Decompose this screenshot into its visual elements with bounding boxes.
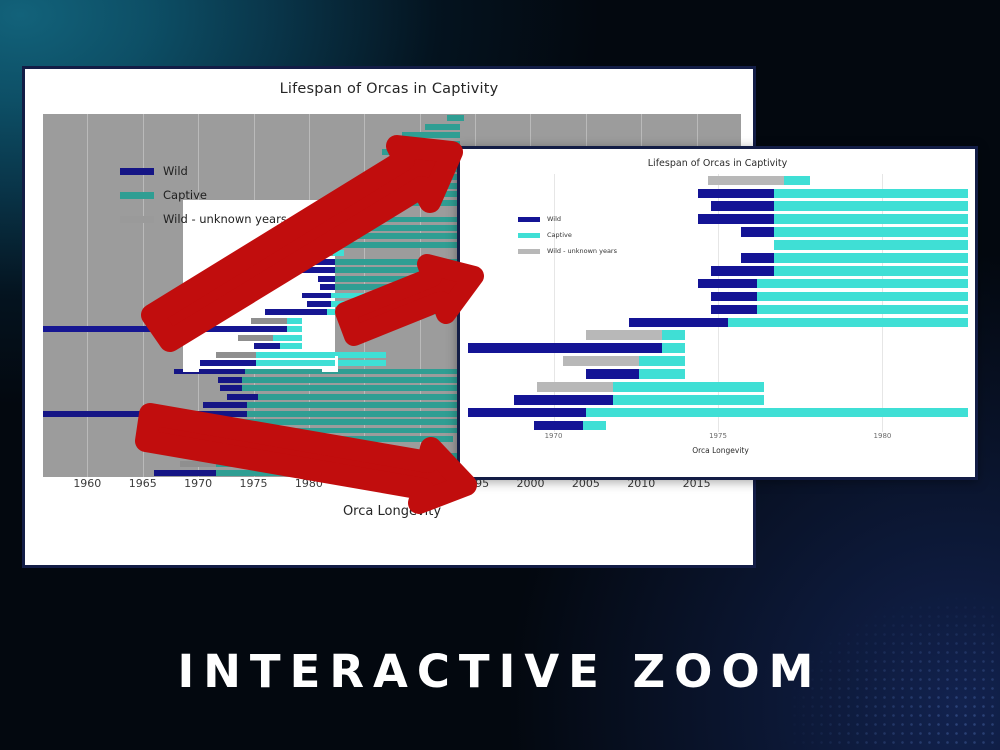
chart-bar-segment (402, 132, 460, 138)
chart-bar-segment (227, 394, 258, 400)
chart-bar-segment (238, 335, 273, 341)
inset-bar-segment (586, 330, 662, 340)
inset-bar-segment (728, 318, 968, 328)
inset-bar-segment (711, 266, 774, 276)
chart-bar-segment (216, 352, 256, 358)
chart-bar-segment (293, 267, 335, 273)
main-chart-legend: Wild Captive Wild - unknown years (120, 159, 287, 231)
chart-bar-segment (229, 419, 475, 425)
inset-legend-item-wild: Wild (518, 211, 617, 227)
inset-bar-segment (662, 330, 685, 340)
inset-bar-segment (784, 176, 810, 186)
inset-bar-segment (613, 395, 764, 405)
chart-bar-segment (191, 453, 222, 459)
chart-bar-segment (280, 343, 302, 349)
legend-label-unknown: Wild - unknown years (163, 212, 287, 226)
chart-bar-segment (203, 402, 247, 408)
chart-bar-segment (254, 343, 281, 349)
chart-bar-segment (256, 352, 387, 358)
inset-bar-segment (698, 189, 774, 199)
chart-bar-segment (316, 242, 338, 248)
inset-legend-label-unknown: Wild - unknown years (547, 247, 617, 255)
chart-bar-segment (302, 293, 331, 299)
x-axis-tick-label: 1980 (295, 477, 323, 490)
inset-legend-swatch-wild-icon (518, 217, 540, 222)
chart-bar-segment (402, 141, 460, 147)
chart-bar-segment (214, 436, 232, 442)
chart-bar-segment (318, 276, 336, 282)
legend-label-wild: Wild (163, 164, 188, 178)
chart-bar-segment (307, 250, 334, 256)
legend-item-wild: Wild (120, 159, 287, 183)
chart-bar-segment (43, 411, 247, 417)
chart-bar-segment (265, 309, 327, 315)
chart-bar-segment (196, 428, 227, 434)
inset-chart-x-axis-label: Orca Longevity (460, 446, 981, 455)
inset-bar-segment (613, 382, 764, 392)
legend-swatch-captive-icon (120, 192, 154, 199)
chart-bar-segment (342, 208, 371, 214)
inset-bar-segment (757, 279, 968, 289)
inset-x-axis-tick-label: 1970 (545, 432, 563, 440)
inset-chart-title: Lifespan of Orcas in Captivity (460, 158, 975, 169)
x-axis-tick-label: 1975 (240, 477, 268, 490)
inset-bar-segment (586, 369, 639, 379)
inset-bar-segment (629, 318, 728, 328)
chart-bar-segment (180, 461, 215, 467)
chart-bar-segment (322, 233, 346, 239)
inset-bar-segment (774, 227, 968, 237)
inset-bar-segment (662, 343, 685, 353)
inset-legend-swatch-captive-icon (518, 233, 540, 238)
inset-bar-segment (774, 266, 968, 276)
inset-x-axis-tick-label: 1975 (709, 432, 727, 440)
slide-caption: INTERACTIVE ZOOM (0, 645, 1000, 698)
chart-bar-segment (287, 326, 303, 332)
inset-bar-segment (468, 408, 586, 418)
chart-bar-segment (220, 385, 242, 391)
inset-bar-segment (537, 382, 613, 392)
chart-bar-segment (216, 461, 353, 467)
selection-handle-bl[interactable] (183, 356, 199, 372)
chart-bar-segment (218, 377, 242, 383)
x-axis-tick-label: 1985 (350, 477, 378, 490)
inset-bar-segment (757, 305, 968, 315)
inset-x-axis-tick-label: 1980 (874, 432, 892, 440)
chart-bar-segment (360, 217, 382, 223)
chart-bar-segment (287, 318, 303, 324)
inset-bar-segment (774, 189, 968, 199)
x-axis-tick-label: 1970 (184, 477, 212, 490)
inset-bar-segment (774, 214, 968, 224)
chart-bar-segment (447, 115, 464, 121)
inset-bar-segment (741, 253, 774, 263)
legend-swatch-unknown-icon (120, 216, 154, 223)
inset-bar-segment (468, 343, 662, 353)
slide-canvas: Lifespan of Orcas in Captivity Wild Capt… (0, 0, 1000, 750)
chart-bar-segment (333, 225, 364, 231)
inset-legend-swatch-unknown-icon (518, 249, 540, 254)
inset-legend-label-wild: Wild (547, 215, 561, 223)
gridline (87, 114, 88, 477)
inset-bar-segment (563, 356, 639, 366)
inset-bar-segment (757, 292, 968, 302)
inset-bar-segment (774, 240, 968, 250)
x-axis-tick-label: 1990 (406, 477, 434, 490)
inset-chart-legend: Wild Captive Wild - unknown years (518, 211, 617, 259)
inset-bar-segment (534, 421, 583, 431)
chart-bar-segment (216, 470, 349, 476)
inset-legend-item-captive: Captive (518, 227, 617, 243)
inset-bar-segment (698, 279, 757, 289)
chart-bar-segment (293, 259, 335, 265)
inset-bar-segment (711, 201, 774, 211)
inset-bar-segment (708, 176, 784, 186)
chart-bar-segment (273, 335, 302, 341)
chart-bar-segment (196, 419, 229, 425)
inset-bar-segment (586, 408, 968, 418)
inset-bar-segment (698, 214, 774, 224)
main-chart-x-axis-label: Orca Longevity (25, 504, 759, 519)
legend-label-captive: Captive (163, 188, 207, 202)
inset-bar-segment (774, 201, 968, 211)
inset-bar-segment (711, 305, 757, 315)
chart-bar-segment (251, 318, 286, 324)
selection-handle-br[interactable] (322, 356, 338, 372)
selection-handle-tr[interactable] (322, 200, 338, 216)
chart-bar-segment (43, 326, 287, 332)
inset-bar-segment (741, 227, 774, 237)
chart-bar-segment (371, 208, 389, 214)
chart-bar-segment (256, 360, 387, 366)
main-chart-x-axis: 1960196519701975198019851990199520002005… (43, 477, 741, 499)
chart-bar-segment (342, 200, 373, 206)
inset-bar-segment (639, 369, 685, 379)
inset-legend-item-unknown: Wild - unknown years (518, 243, 617, 259)
chart-bar-segment (154, 470, 216, 476)
chart-bar-segment (307, 301, 331, 307)
legend-swatch-wild-icon (120, 168, 154, 175)
main-chart-title: Lifespan of Orcas in Captivity (25, 81, 753, 97)
x-axis-tick-label: 1960 (73, 477, 101, 490)
chart-bar-segment (320, 284, 336, 290)
legend-item-unknown: Wild - unknown years (120, 207, 287, 231)
inset-bar-segment (514, 395, 613, 405)
chart-bar-segment (231, 436, 453, 442)
inset-legend-label-captive: Captive (547, 231, 572, 239)
legend-item-captive: Captive (120, 183, 287, 207)
x-axis-tick-label: 1965 (129, 477, 157, 490)
inset-bar-segment (639, 356, 685, 366)
zoom-inset-card: Lifespan of Orcas in Captivity Wild Capt… (457, 146, 978, 480)
chart-bar-segment (200, 360, 255, 366)
inset-bar-segment (774, 253, 968, 263)
chart-bar-segment (382, 149, 457, 155)
chart-bar-segment (333, 250, 344, 256)
chart-bar-segment (425, 124, 459, 130)
inset-bar-segment (583, 421, 606, 431)
inset-gridline (882, 174, 883, 432)
inset-bar-segment (711, 292, 757, 302)
chart-bar-segment (218, 445, 231, 451)
inset-chart-x-axis: 197019751980 (468, 432, 968, 446)
inset-gridline (718, 174, 719, 432)
chart-bar-segment (231, 445, 353, 451)
